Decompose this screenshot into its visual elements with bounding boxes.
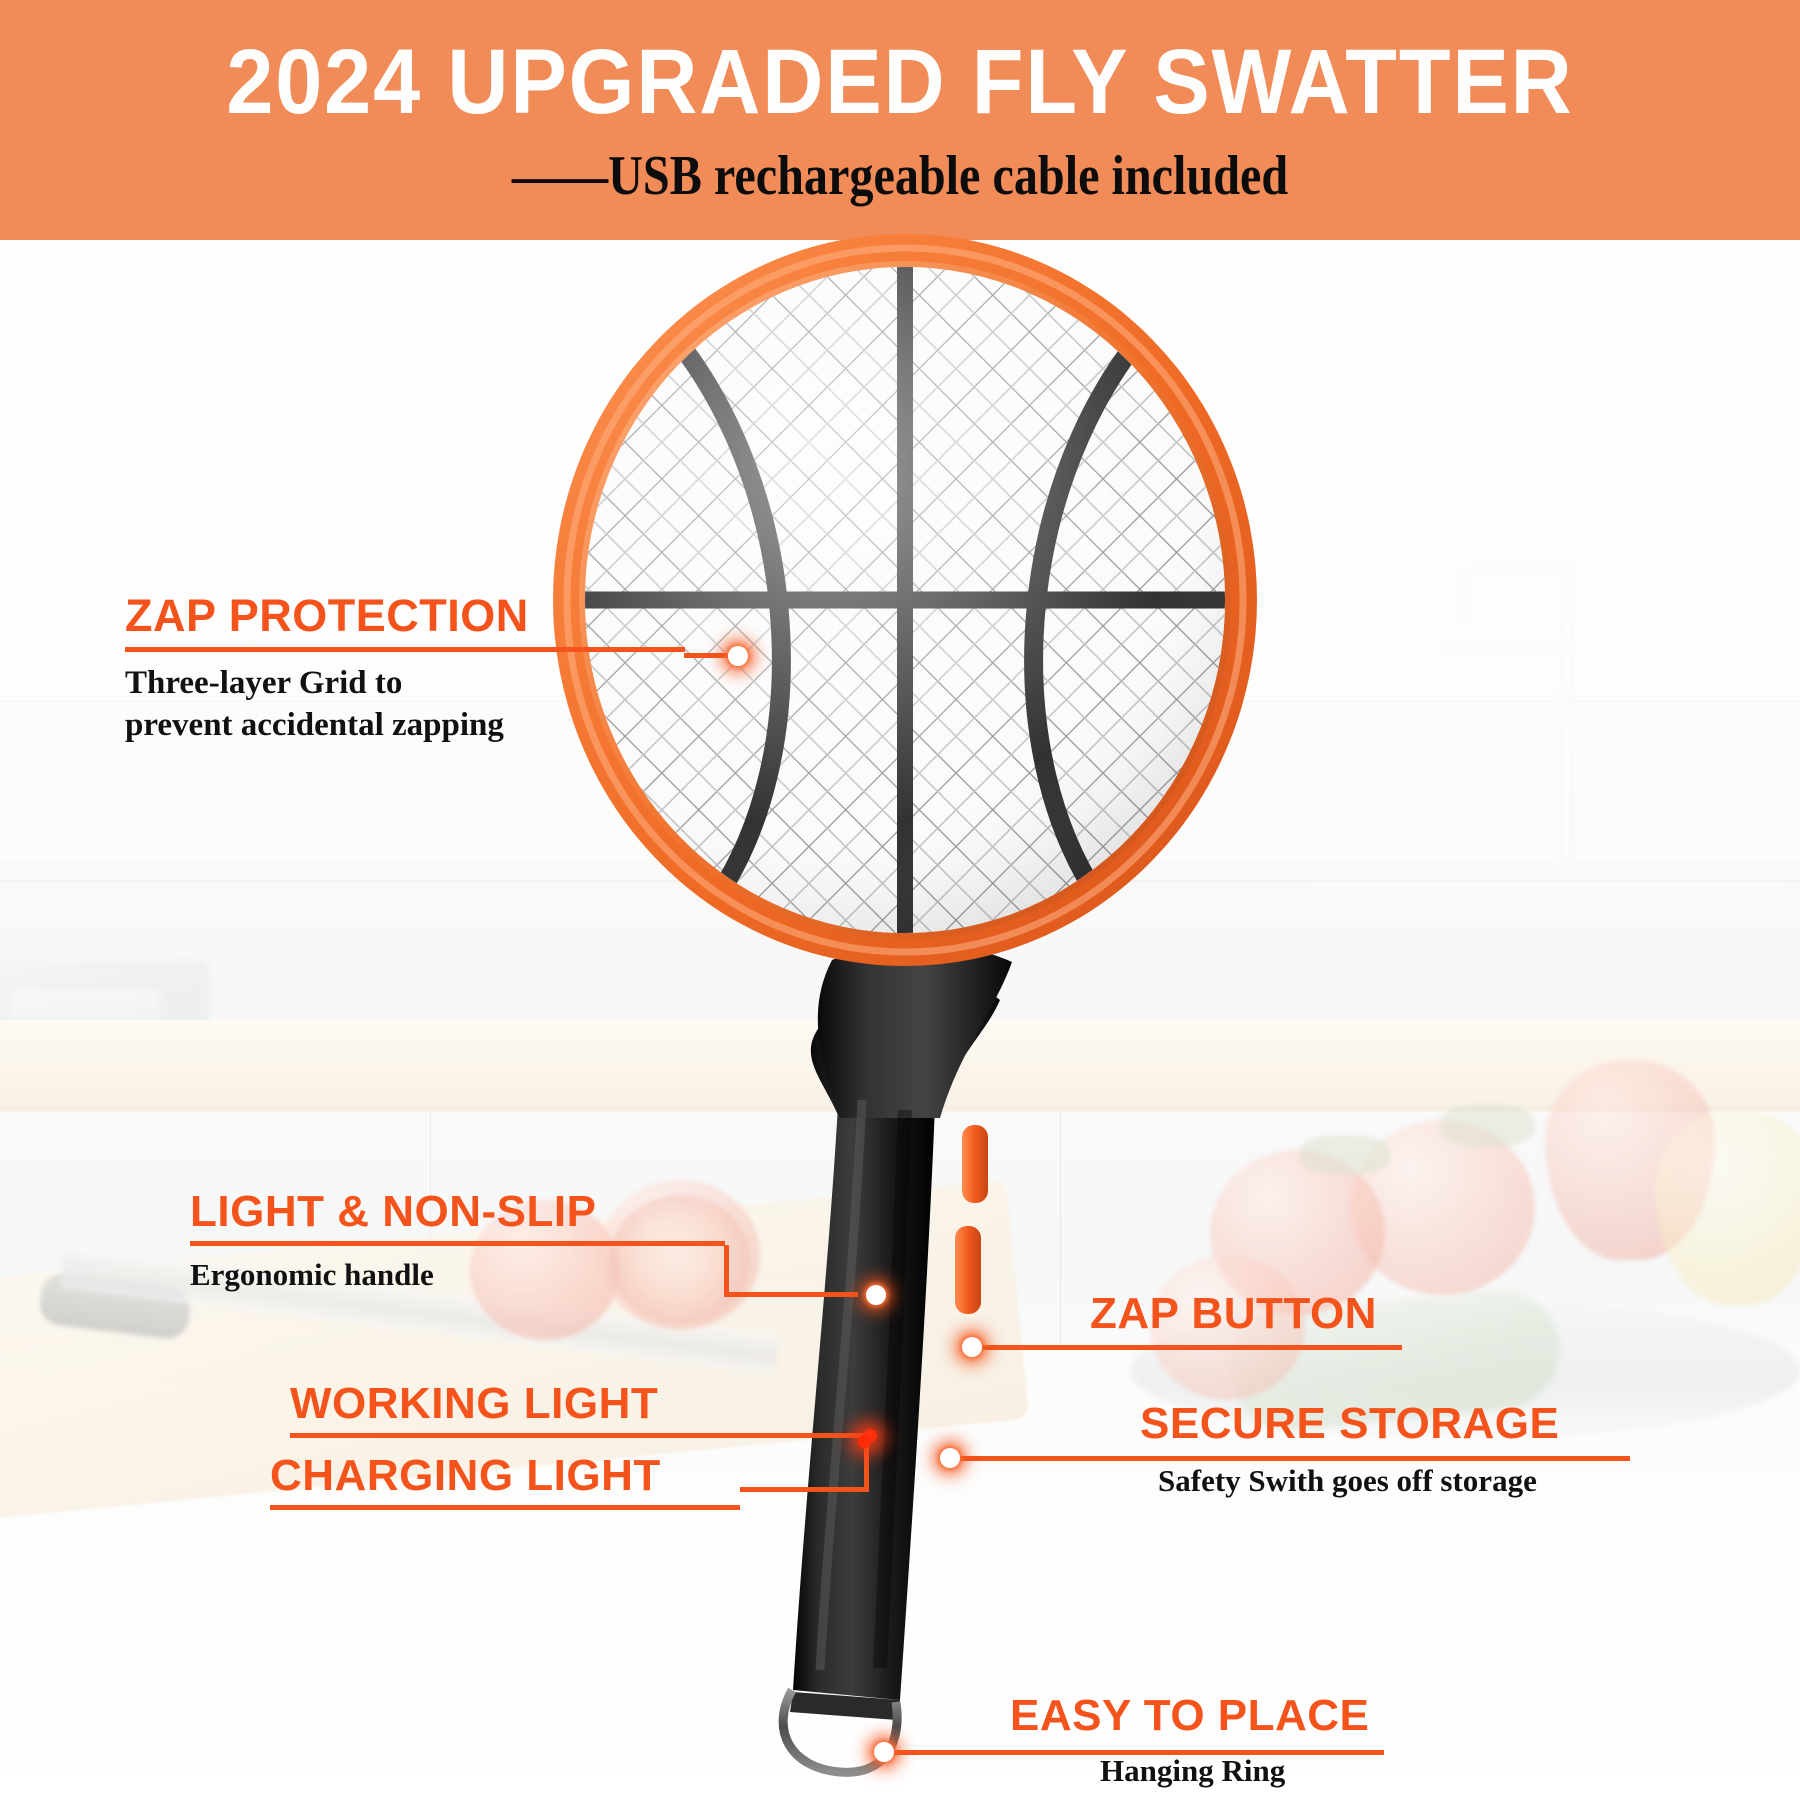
- leader-light-non-slip-v: [724, 1245, 729, 1297]
- background-scene: [0, 0, 1800, 1800]
- marker-zap-protection: [728, 646, 748, 666]
- callout-zap-protection-rule: [125, 647, 685, 652]
- callout-working-light[interactable]: WORKING LIGHT: [290, 1380, 740, 1438]
- leader-charging-light-h: [740, 1487, 868, 1492]
- marker-easy-to-place: [874, 1742, 894, 1762]
- leader-zap-button: [972, 1345, 1402, 1350]
- callout-zap-protection-desc-2: prevent accidental zapping: [125, 704, 685, 746]
- callout-charging-light-title: CHARGING LIGHT: [270, 1452, 740, 1499]
- leader-secure-storage: [948, 1456, 1630, 1461]
- callout-light-non-slip[interactable]: LIGHT & NON-SLIP Ergonomic handle: [190, 1188, 725, 1295]
- marker-light-non-slip: [866, 1285, 886, 1305]
- callout-easy-to-place[interactable]: EASY TO PLACE Hanging Ring: [1010, 1692, 1369, 1791]
- callout-secure-storage[interactable]: SECURE STORAGE Safety Swith goes off sto…: [1140, 1400, 1559, 1501]
- callout-zap-protection-desc-1: Three-layer Grid to: [125, 662, 685, 704]
- callout-secure-storage-title: SECURE STORAGE: [1140, 1400, 1559, 1447]
- infographic-canvas: 2024 UPGRADED FLY SWATTER ——USB recharge…: [0, 0, 1800, 1800]
- callout-charging-light-rule: [270, 1505, 740, 1510]
- callout-zap-protection-title: ZAP PROTECTION: [125, 592, 685, 640]
- callout-working-light-rule: [290, 1433, 740, 1438]
- leader-easy-to-place: [884, 1750, 1384, 1755]
- background-whitewash-top: [0, 240, 1800, 860]
- leader-light-non-slip-h: [724, 1292, 858, 1297]
- leader-charging-light-v: [864, 1443, 869, 1492]
- marker-secure-storage: [940, 1448, 960, 1468]
- leader-working-light: [740, 1433, 870, 1438]
- marker-zap-button: [962, 1337, 982, 1357]
- callout-zap-button[interactable]: ZAP BUTTON: [1090, 1290, 1377, 1337]
- callout-secure-storage-desc: Safety Swith goes off storage: [1158, 1461, 1559, 1501]
- callout-charging-light[interactable]: CHARGING LIGHT: [270, 1452, 740, 1510]
- callout-working-light-title: WORKING LIGHT: [290, 1380, 740, 1427]
- callout-light-non-slip-rule: [190, 1241, 725, 1246]
- page-title: 2024 UPGRADED FLY SWATTER: [72, 34, 1728, 130]
- page-subtitle: ——USB rechargeable cable included: [126, 145, 1674, 207]
- callout-easy-to-place-title: EASY TO PLACE: [1010, 1692, 1369, 1739]
- callout-light-non-slip-title: LIGHT & NON-SLIP: [190, 1188, 725, 1235]
- callout-light-non-slip-desc: Ergonomic handle: [190, 1255, 725, 1295]
- callout-zap-button-title: ZAP BUTTON: [1090, 1290, 1377, 1337]
- callout-zap-protection[interactable]: ZAP PROTECTION Three-layer Grid to preve…: [125, 592, 685, 746]
- header-banner: 2024 UPGRADED FLY SWATTER ——USB recharge…: [0, 0, 1800, 240]
- marker-charging-light-led: [858, 1435, 871, 1448]
- callout-easy-to-place-desc: Hanging Ring: [1100, 1751, 1369, 1791]
